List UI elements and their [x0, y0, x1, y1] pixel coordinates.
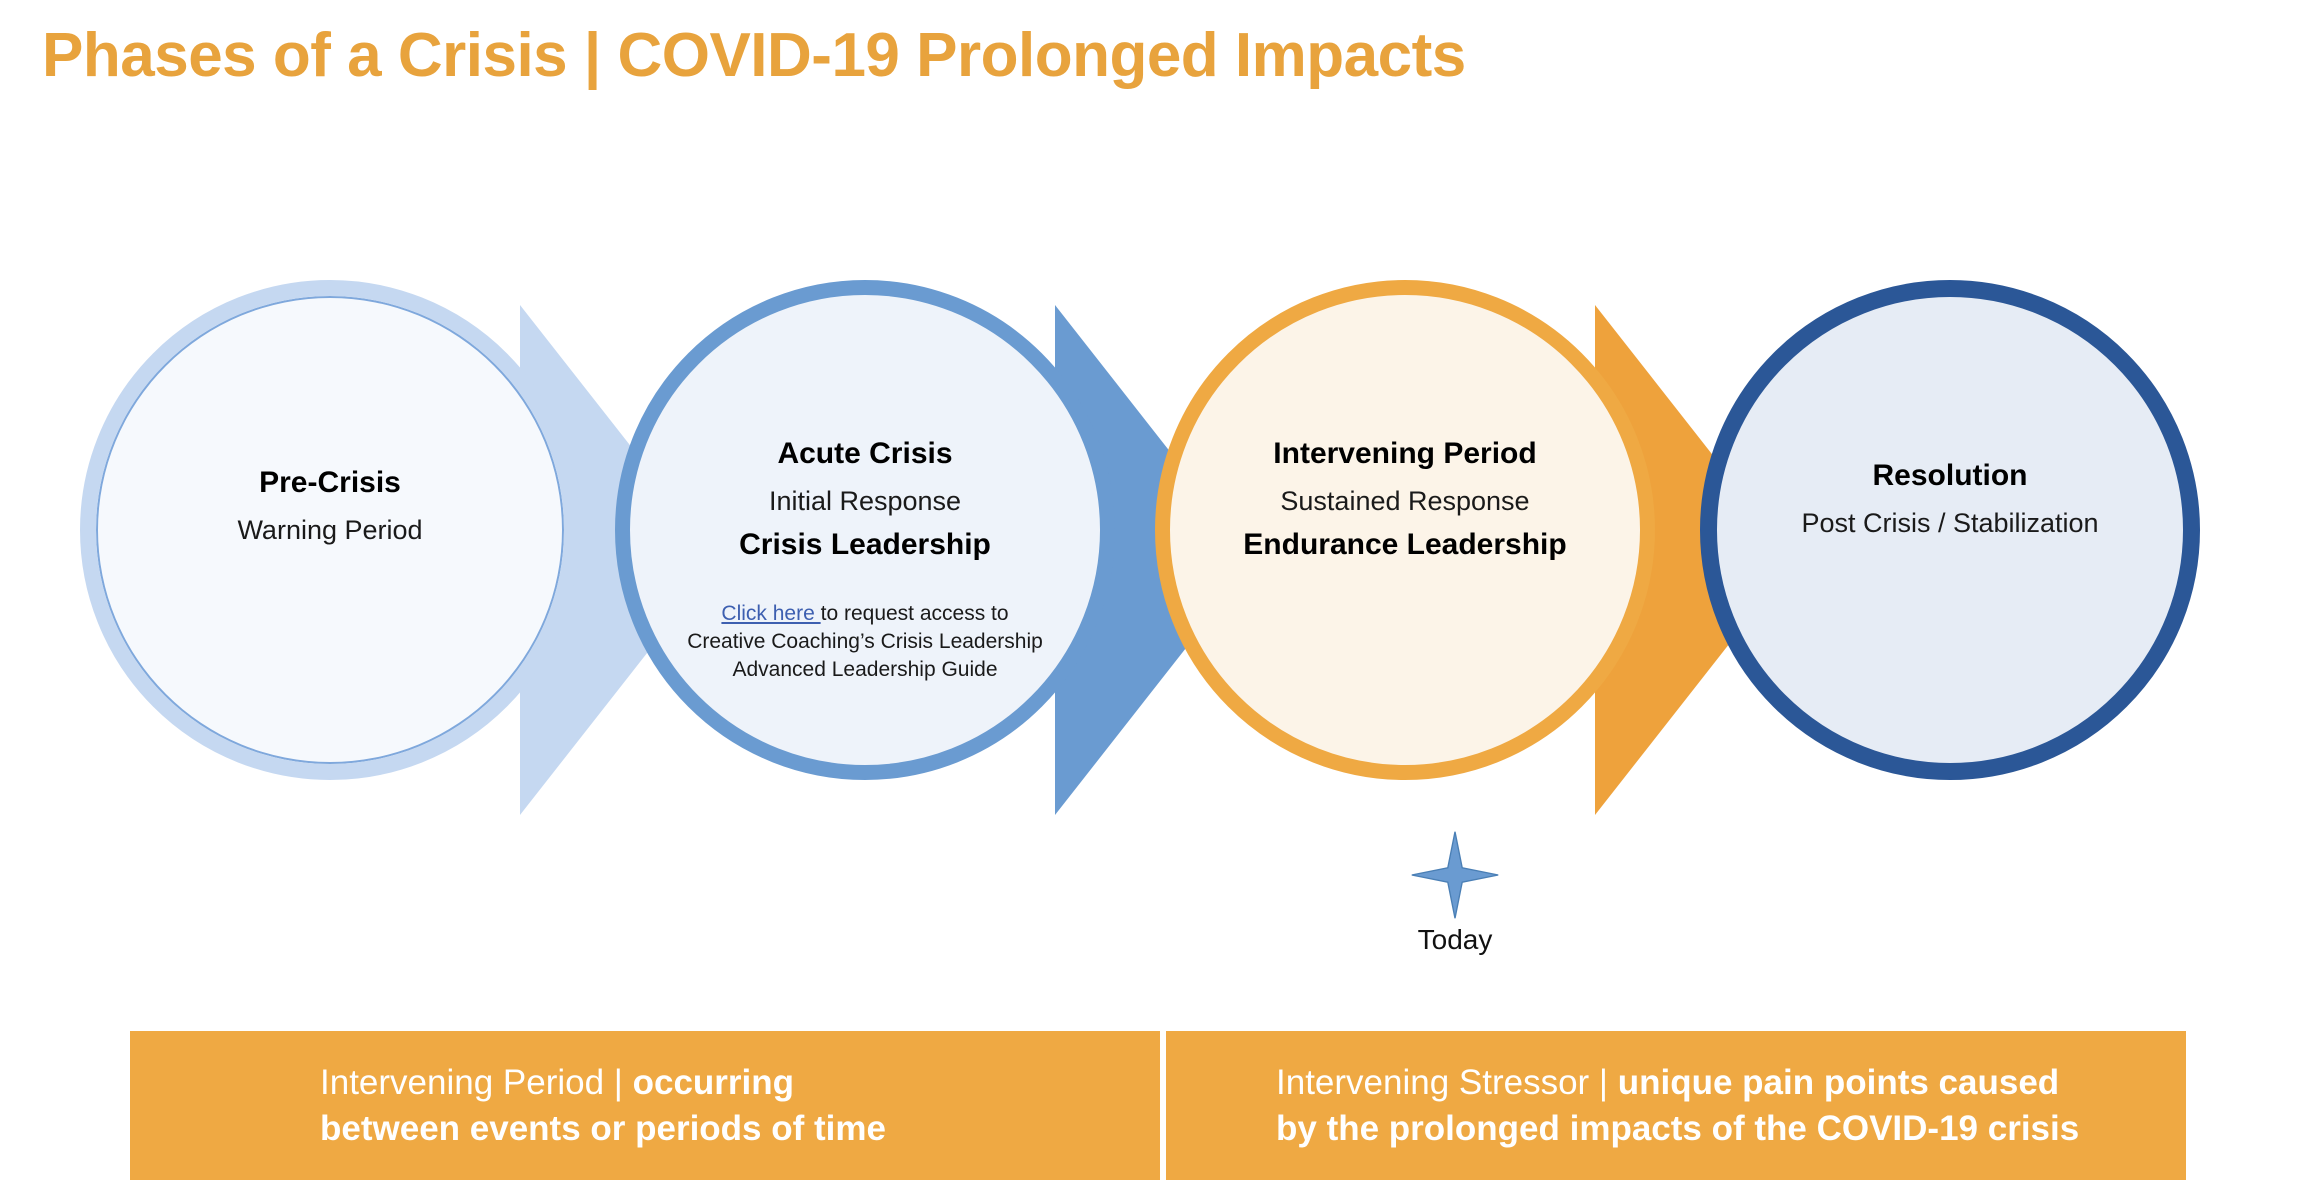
- page-title: Phases of a Crisis | COVID-19 Prolonged …: [42, 20, 1466, 91]
- banner-bold-line1: occurring: [633, 1063, 794, 1102]
- phase-heading: Resolution: [1717, 457, 2183, 495]
- phase-circle-intervening-period[interactable]: Intervening Period Sustained Response En…: [1155, 280, 1655, 780]
- banner-bold-line2: between events or periods of time: [320, 1109, 886, 1148]
- phase-leadership-label: Endurance Leadership: [1170, 526, 1640, 564]
- phase-circle-content: Intervening Period Sustained Response En…: [1170, 295, 1640, 564]
- phase-heading: Pre-Crisis: [96, 464, 564, 502]
- phase-circle-content: Resolution Post Crisis / Stabilization: [1717, 297, 2183, 540]
- footer-banners: Intervening Period | occurringbetween ev…: [130, 1031, 2186, 1180]
- today-label: Today: [1350, 924, 1560, 956]
- crisis-phases-diagram: Pre-Crisis Warning Period Acute Crisis I…: [0, 280, 2304, 840]
- phase-subtitle: Sustained Response: [1170, 485, 1640, 519]
- phase-circle-content: Pre-Crisis Warning Period: [96, 296, 564, 547]
- phase-note: Click here to request access to Creative…: [630, 600, 1100, 685]
- phase-circle-pre-crisis[interactable]: Pre-Crisis Warning Period: [80, 280, 580, 780]
- phase-subtitle: Initial Response: [630, 485, 1100, 519]
- banner-bold-line2: by the prolonged impacts of the COVID-19…: [1276, 1109, 2079, 1148]
- banner-lead: Intervening Period |: [320, 1063, 633, 1102]
- today-marker: Today: [1350, 830, 1560, 956]
- phase-heading: Intervening Period: [1170, 435, 1640, 473]
- banner-lead: Intervening Stressor |: [1276, 1063, 1618, 1102]
- phase-circle-resolution[interactable]: Resolution Post Crisis / Stabilization: [1700, 280, 2200, 780]
- phase-heading: Acute Crisis: [630, 435, 1100, 473]
- four-point-star-icon: [1410, 830, 1500, 920]
- banner-intervening-stressor: Intervening Stressor | unique pain point…: [1166, 1031, 2186, 1180]
- banner-intervening-period: Intervening Period | occurringbetween ev…: [130, 1031, 1160, 1180]
- phase-leadership-label: Crisis Leadership: [630, 526, 1100, 564]
- phase-circle-content: Acute Crisis Initial Response Crisis Lea…: [630, 295, 1100, 685]
- phase-circle-acute-crisis[interactable]: Acute Crisis Initial Response Crisis Lea…: [615, 280, 1115, 780]
- banner-text: Intervening Period | occurringbetween ev…: [320, 1060, 886, 1151]
- request-access-link[interactable]: Click here: [721, 602, 820, 625]
- banner-bold-line1: unique pain points caused: [1618, 1063, 2059, 1102]
- phase-subtitle: Warning Period: [96, 514, 564, 548]
- phase-subtitle: Post Crisis / Stabilization: [1717, 507, 2183, 541]
- banner-text: Intervening Stressor | unique pain point…: [1276, 1060, 2079, 1151]
